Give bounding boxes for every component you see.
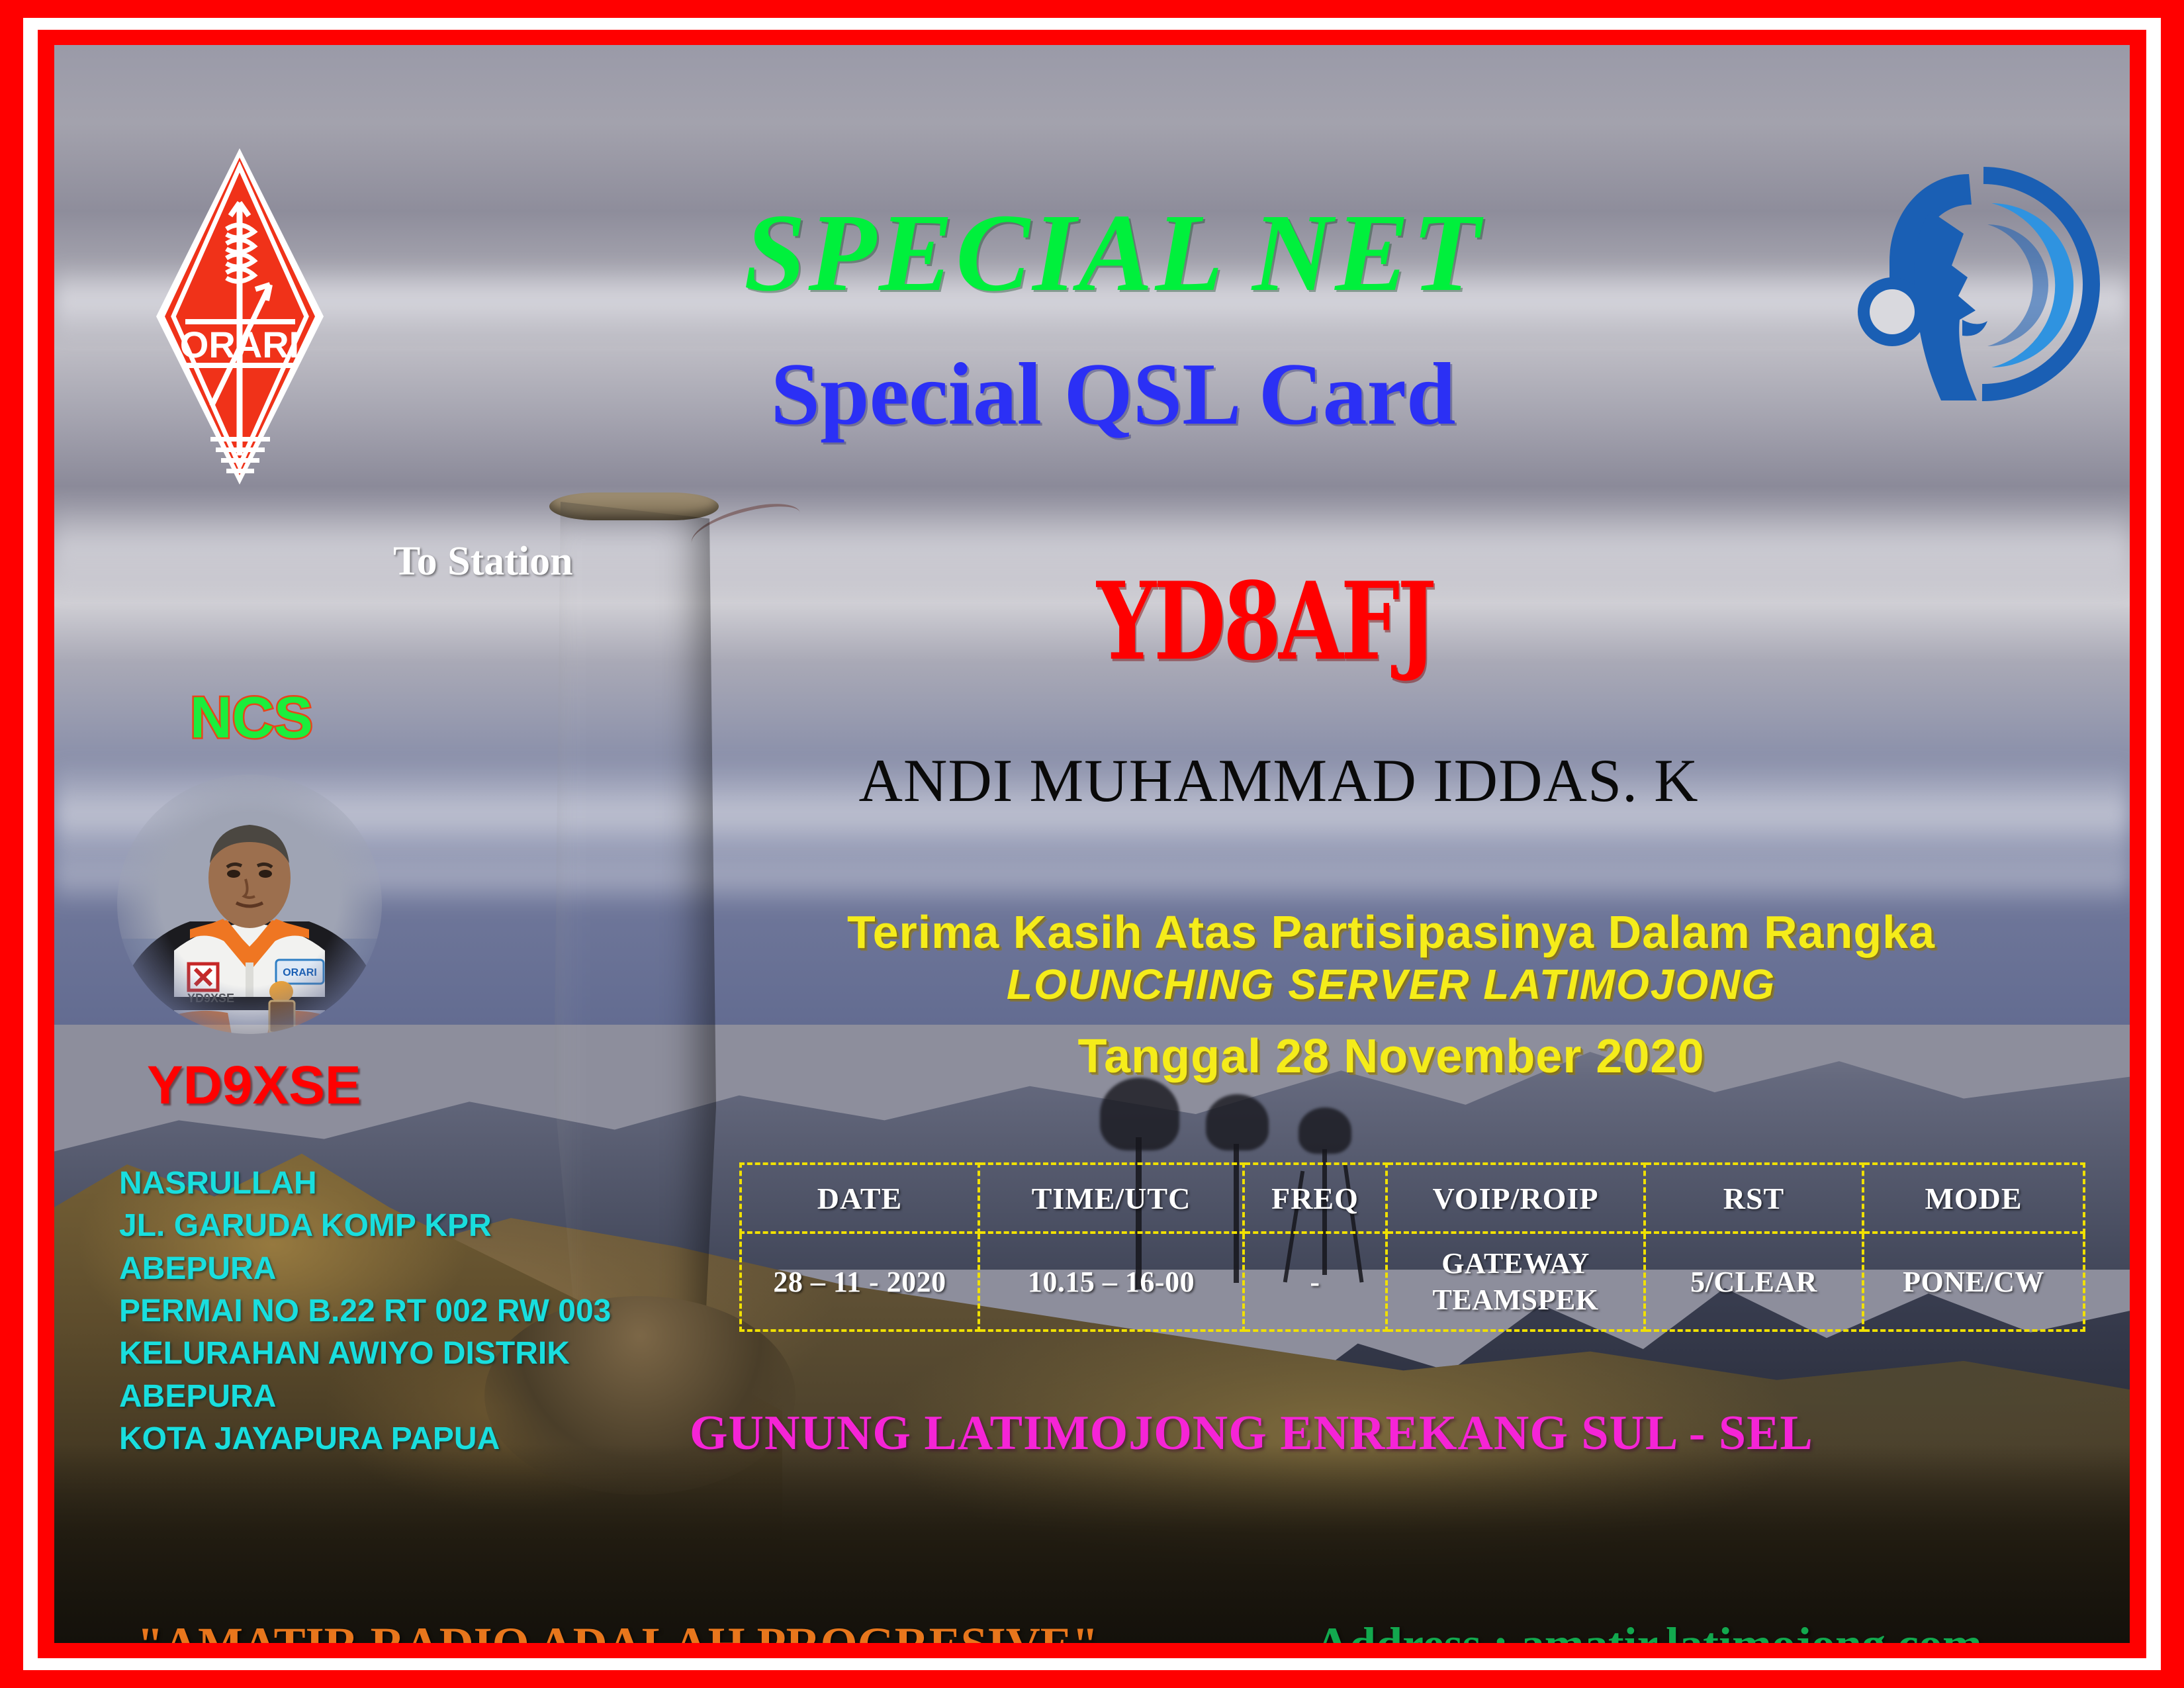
- address-line: PERMAI NO B.22 RT 002 RW 003: [119, 1290, 611, 1333]
- column-header-rst: RST: [1645, 1164, 1863, 1233]
- sender-address-block: NASRULLAH JL. GARUDA KOMP KPR ABEPURA PE…: [119, 1162, 611, 1460]
- svg-text:YD9XSE: YD9XSE: [187, 992, 234, 1005]
- page-subtitle: Special QSL Card: [504, 350, 1722, 438]
- ncs-callsign: YD9XSE: [147, 1055, 361, 1117]
- qso-log-table: DATE TIME/UTC FREQ VOIP/ROIP RST MODE 28…: [739, 1162, 2085, 1332]
- foreground-shadow: [54, 1444, 2130, 1643]
- cell-time: 10.15 – 16-00: [979, 1233, 1244, 1331]
- ncs-label: NCS: [190, 684, 313, 751]
- address-line: KOTA JAYAPURA PAPUA: [119, 1418, 611, 1460]
- ncs-operator-avatar: ORARI YD9XSE: [111, 773, 388, 1038]
- cell-rst: 5/CLEAR: [1645, 1233, 1863, 1331]
- cell-mode: PONE/CW: [1863, 1233, 2084, 1331]
- cell-voip-line1: GATEWAY: [1388, 1245, 1643, 1282]
- column-header-date: DATE: [741, 1164, 979, 1233]
- cell-voip: GATEWAY TEAMSPEK: [1387, 1233, 1645, 1331]
- column-header-voip: VOIP/ROIP: [1387, 1164, 1645, 1233]
- orari-logo-text: ORARI: [180, 324, 299, 365]
- tree-silhouette: [1206, 1094, 1269, 1150]
- location-label: GUNUNG LATIMOJONG ENREKANG SUL - SEL: [690, 1405, 1881, 1462]
- cell-freq: -: [1244, 1233, 1387, 1331]
- footer-web-address: Address : amatir.latimojong.com: [1315, 1617, 1982, 1643]
- cell-date: 28 – 11 - 2020: [741, 1233, 979, 1331]
- to-station-label: To Station: [393, 538, 573, 585]
- address-line: ABEPURA: [119, 1376, 611, 1418]
- address-line: JL. GARUDA KOMP KPR: [119, 1205, 611, 1247]
- svg-text:ORARI: ORARI: [283, 967, 317, 978]
- card-background-photo: ORARI SPECIAL NET Special Q: [54, 45, 2130, 1643]
- address-line: ABEPURA: [119, 1248, 611, 1290]
- table-row: 28 – 11 - 2020 10.15 – 16-00 - GATEWAY T…: [741, 1233, 2084, 1331]
- column-header-mode: MODE: [1863, 1164, 2084, 1233]
- headset-profile-icon: [1851, 154, 2109, 412]
- orari-logo: ORARI: [152, 144, 328, 489]
- operator-name: ANDI MUHAMMAD IDDAS. K: [650, 750, 1907, 811]
- station-callsign: YD8AFJ: [835, 568, 1696, 675]
- page-title: SPECIAL NET: [504, 197, 1722, 308]
- column-header-freq: FREQ: [1244, 1164, 1387, 1233]
- table-header-row: DATE TIME/UTC FREQ VOIP/ROIP RST MODE: [741, 1164, 2084, 1233]
- column-header-time: TIME/UTC: [979, 1164, 1244, 1233]
- tree-silhouette: [1298, 1107, 1351, 1154]
- event-line-2: LOUNCHING SERVER LATIMOJONG: [729, 960, 2053, 1009]
- address-line: KELURAHAN AWIYO DISTRIK: [119, 1333, 611, 1375]
- event-date: Tanggal 28 November 2020: [729, 1029, 2053, 1084]
- footer-motto: "AMATIR RADIO ADALAH PROGRESIVE": [137, 1617, 1099, 1643]
- event-line-1: Terima Kasih Atas Partisipasinya Dalam R…: [729, 906, 2053, 959]
- address-line: NASRULLAH: [119, 1162, 611, 1205]
- qsl-card-frame: ORARI SPECIAL NET Special Q: [0, 0, 2184, 1688]
- cell-voip-line2: TEAMSPEK: [1388, 1282, 1643, 1318]
